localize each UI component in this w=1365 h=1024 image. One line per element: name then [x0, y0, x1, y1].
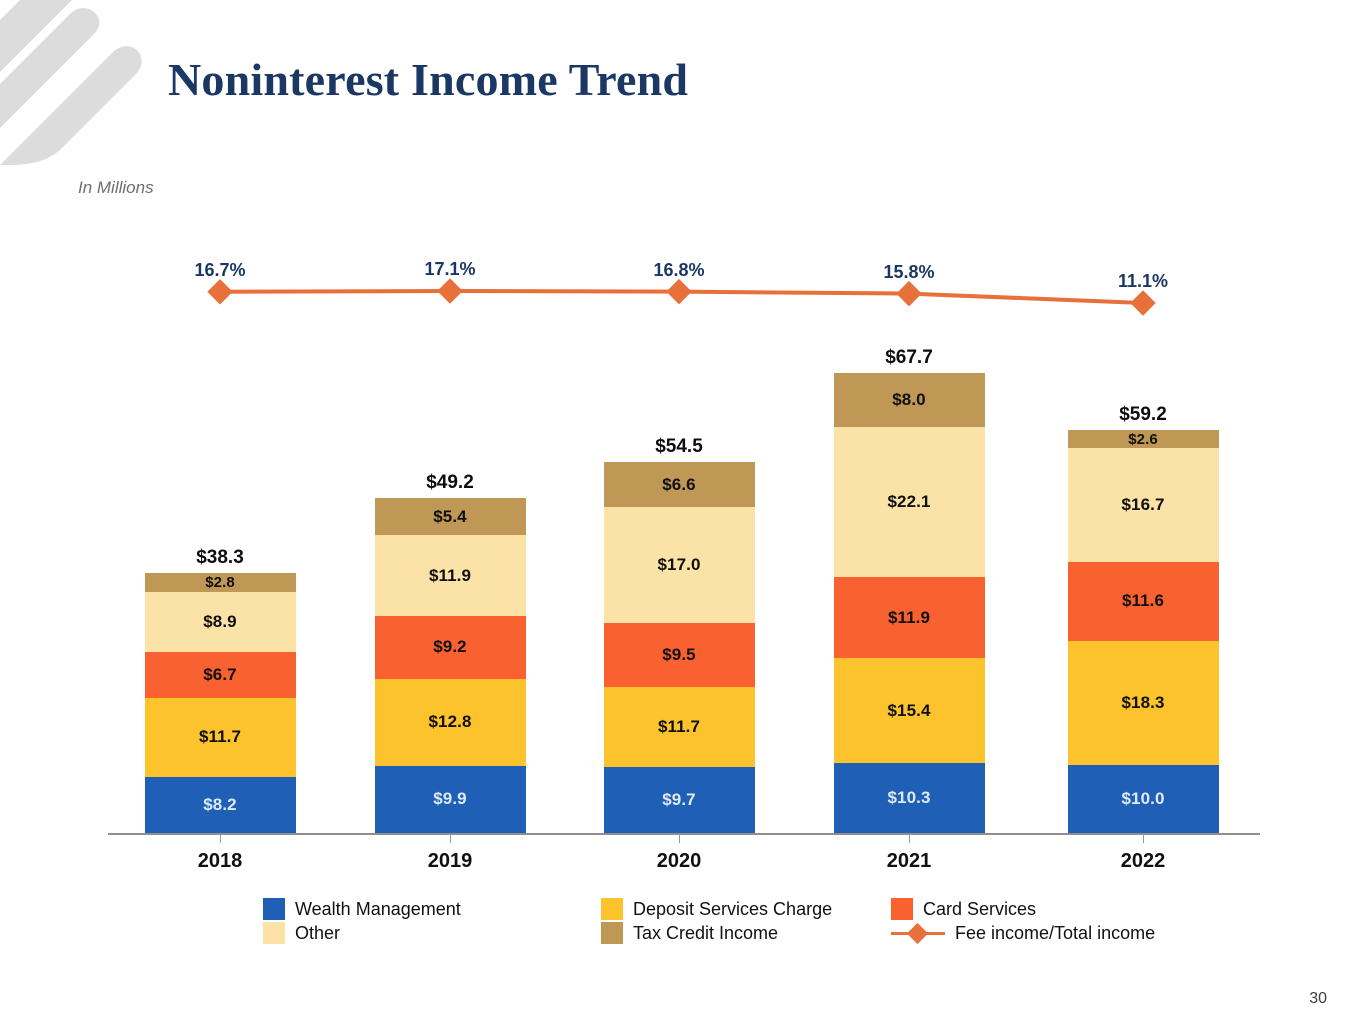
- bar-column-2021[interactable]: $10.3$15.4$11.9$22.1$8.0: [834, 373, 985, 833]
- bar-segment-value: $6.6: [662, 475, 696, 495]
- ratio-diamond-marker[interactable]: [207, 279, 232, 304]
- bar-segment[interactable]: $11.9: [375, 535, 526, 616]
- bar-segment[interactable]: $8.2: [145, 777, 296, 833]
- bar-segment[interactable]: $11.7: [145, 698, 296, 778]
- ratio-value-label: 16.8%: [609, 260, 749, 281]
- bar-segment[interactable]: $11.7: [604, 687, 755, 767]
- bar-segment-value: $9.9: [433, 789, 467, 809]
- x-axis-label-2022: 2022: [1063, 850, 1223, 873]
- legend-item-card-services[interactable]: Card Services: [891, 897, 1163, 921]
- bar-segment-value: $15.4: [887, 701, 930, 721]
- ratio-value-label: 11.1%: [1073, 271, 1213, 292]
- bar-segment-value: $10.3: [887, 788, 930, 808]
- legend-item-label: Fee income/Total income: [955, 923, 1155, 944]
- bar-segment-value: $2.8: [205, 574, 235, 591]
- bar-segment[interactable]: $16.7: [1068, 448, 1219, 562]
- bar-total-label: $54.5: [604, 436, 755, 458]
- ratio-diamond-marker[interactable]: [896, 281, 921, 306]
- bar-column-2022[interactable]: $10.0$18.3$11.6$16.7$2.6: [1068, 430, 1219, 833]
- stacked-bar-chart: $8.2$11.7$6.7$8.9$2.8$38.3$9.9$12.8$9.2$…: [0, 0, 1365, 1024]
- legend-item-label: Deposit Services Charge: [633, 899, 832, 920]
- bar-segment[interactable]: $6.6: [604, 462, 755, 507]
- bar-segment[interactable]: $11.9: [834, 577, 985, 658]
- bar-segment-value: $17.0: [657, 555, 700, 575]
- bar-total-label: $59.2: [1068, 404, 1219, 426]
- bar-segment-value: $12.8: [428, 712, 471, 732]
- x-axis-label-2021: 2021: [829, 850, 989, 873]
- x-axis-label-2018: 2018: [140, 850, 300, 873]
- slide-root: Noninterest Income Trend In Millions $8.…: [0, 0, 1365, 1024]
- bar-segment-value: $6.7: [203, 665, 237, 685]
- bar-column-2019[interactable]: $9.9$12.8$9.2$11.9$5.4: [375, 498, 526, 833]
- chart-legend: Wealth ManagementDeposit Services Charge…: [263, 897, 1163, 945]
- bar-segment[interactable]: $17.0: [604, 507, 755, 623]
- legend-swatch-other: [263, 922, 285, 944]
- legend-swatch-card-services: [891, 898, 913, 920]
- legend-item-other[interactable]: Other: [263, 921, 601, 945]
- bar-column-2020[interactable]: $9.7$11.7$9.5$17.0$6.6: [604, 462, 755, 833]
- bar-segment[interactable]: $9.5: [604, 623, 755, 688]
- ratio-value-label: 17.1%: [380, 259, 520, 280]
- bar-segment-value: $16.7: [1121, 495, 1164, 515]
- legend-line-diamond-marker: [891, 922, 945, 944]
- x-axis-tick: [220, 834, 221, 843]
- bar-segment[interactable]: $2.6: [1068, 430, 1219, 448]
- ratio-diamond-marker[interactable]: [437, 278, 462, 303]
- legend-item-label: Card Services: [923, 899, 1036, 920]
- bar-total-label: $67.7: [834, 347, 985, 369]
- bar-segment-value: $2.6: [1128, 431, 1158, 448]
- bar-segment-value: $18.3: [1121, 693, 1164, 713]
- bar-segment[interactable]: $22.1: [834, 427, 985, 577]
- bar-segment[interactable]: $11.6: [1068, 562, 1219, 641]
- x-axis-label-2019: 2019: [370, 850, 530, 873]
- bar-segment[interactable]: $10.3: [834, 763, 985, 833]
- legend-swatch-wealth-management: [263, 898, 285, 920]
- bar-segment-value: $10.0: [1121, 789, 1164, 809]
- bar-segment-value: $22.1: [887, 492, 930, 512]
- bar-segment-value: $11.9: [888, 608, 930, 628]
- bar-segment[interactable]: $9.9: [375, 766, 526, 833]
- legend-item-deposit-services-charge[interactable]: Deposit Services Charge: [601, 897, 891, 921]
- x-axis-tick: [450, 834, 451, 843]
- page-number: 30: [1309, 990, 1327, 1008]
- legend-item-label: Other: [295, 923, 340, 944]
- ratio-diamond-marker[interactable]: [666, 279, 691, 304]
- bar-segment-value: $11.9: [429, 566, 471, 586]
- legend-item-label: Wealth Management: [295, 899, 461, 920]
- bar-segment[interactable]: $5.4: [375, 498, 526, 535]
- x-axis-tick: [1143, 834, 1144, 843]
- ratio-diamond-marker[interactable]: [1130, 290, 1155, 315]
- bar-segment-value: $8.2: [203, 795, 237, 815]
- x-axis-line: [108, 833, 1260, 835]
- legend-item-label: Tax Credit Income: [633, 923, 778, 944]
- legend-item-tax-credit-income[interactable]: Tax Credit Income: [601, 921, 891, 945]
- bar-segment-value: $5.4: [433, 507, 467, 527]
- legend-item-wealth-management[interactable]: Wealth Management: [263, 897, 601, 921]
- bar-segment[interactable]: $9.7: [604, 767, 755, 833]
- bar-segment-value: $9.7: [662, 790, 696, 810]
- bar-segment-value: $9.5: [662, 645, 696, 665]
- x-axis-tick: [909, 834, 910, 843]
- x-axis-tick: [679, 834, 680, 843]
- bar-segment[interactable]: $6.7: [145, 652, 296, 698]
- bar-segment-value: $11.6: [1122, 591, 1164, 611]
- bar-segment-value: $11.7: [658, 717, 700, 737]
- bar-segment[interactable]: $12.8: [375, 679, 526, 766]
- ratio-value-label: 15.8%: [839, 262, 979, 283]
- bar-segment-value: $9.2: [433, 637, 467, 657]
- ratio-value-label: 16.7%: [150, 260, 290, 281]
- bar-segment[interactable]: $8.9: [145, 592, 296, 653]
- bar-total-label: $49.2: [375, 472, 526, 494]
- legend-swatch-tax-credit-income: [601, 922, 623, 944]
- legend-item-fee-income-total-income[interactable]: Fee income/Total income: [891, 921, 1163, 945]
- bar-segment-value: $8.9: [203, 612, 237, 632]
- bar-segment[interactable]: $10.0: [1068, 765, 1219, 833]
- bar-segment[interactable]: $18.3: [1068, 641, 1219, 765]
- bar-segment-value: $11.7: [199, 727, 241, 747]
- bar-segment[interactable]: $9.2: [375, 616, 526, 679]
- x-axis-label-2020: 2020: [599, 850, 759, 873]
- bar-column-2018[interactable]: $8.2$11.7$6.7$8.9$2.8: [145, 573, 296, 833]
- bar-segment[interactable]: $2.8: [145, 573, 296, 592]
- bar-segment[interactable]: $15.4: [834, 658, 985, 763]
- bar-segment-value: $8.0: [892, 390, 926, 410]
- bar-segment[interactable]: $8.0: [834, 373, 985, 427]
- legend-swatch-deposit-services-charge: [601, 898, 623, 920]
- bar-total-label: $38.3: [145, 547, 296, 569]
